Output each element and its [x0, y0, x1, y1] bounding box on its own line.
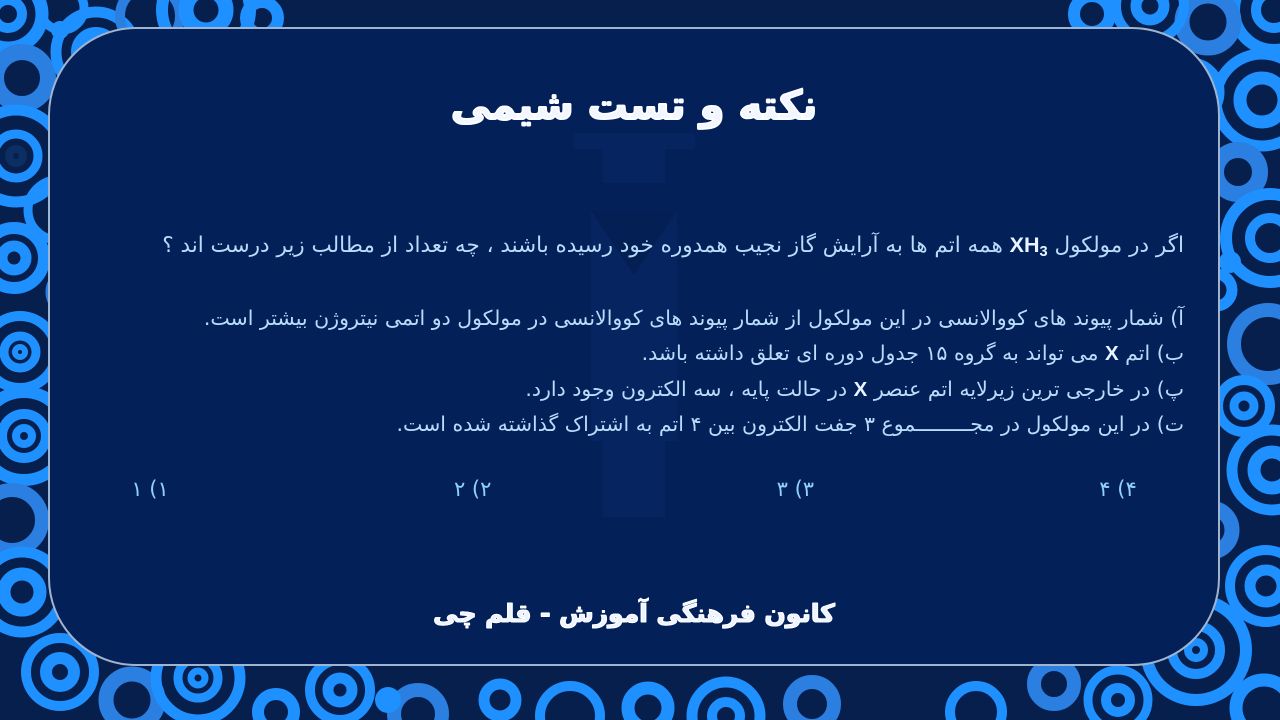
option-1[interactable]: ۱) ۱ — [90, 477, 210, 501]
question-prefix: اگر در مولکول — [1048, 233, 1184, 258]
statement-item-a: آ) شمار پیوند های کووالانسی در این مولکو… — [84, 301, 1184, 336]
slide-root: نکته و تست شیمی اگر در مولکول XH3 همه ات… — [0, 0, 1280, 720]
statement-item-t: ت) در این مولکول در مجـــــــــموع ۳ جفت… — [84, 407, 1184, 442]
statement-b-text-2: می تواند به گروه ۱۵ جدول دوره ای تعلق دا… — [642, 341, 1105, 365]
statement-a-text: آ) شمار پیوند های کووالانسی در این مولکو… — [204, 306, 1184, 330]
footer-branding: کانون فرهنگی آموزش - قلم چی — [50, 599, 1218, 628]
molecular-formula: XH3 — [1010, 233, 1048, 257]
content-card: نکته و تست شیمی اگر در مولکول XH3 همه ات… — [48, 27, 1220, 666]
statement-p-text-1: پ) در خارجی ترین زیرلایه اتم عنصر — [867, 377, 1184, 401]
statement-item-p: پ) در خارجی ترین زیرلایه اتم عنصر X در ح… — [84, 372, 1184, 407]
option-2[interactable]: ۲) ۲ — [413, 477, 533, 501]
statement-t-text: ت) در این مولکول در مجـــــــــموع ۳ جفت… — [396, 412, 1184, 436]
answer-options: ۱) ۱ ۲) ۲ ۳) ۳ ۴) ۴ — [90, 477, 1178, 501]
question-suffix: همه اتم ها به آرایش گاز نجیب همدوره خود … — [162, 233, 1009, 258]
statement-p-symbol: X — [854, 378, 868, 401]
statement-p-text-2: در حالت پایه ، سه الکترون وجود دارد. — [525, 377, 853, 401]
statement-item-b: ب) اتم X می تواند به گروه ۱۵ جدول دوره ا… — [84, 336, 1184, 371]
statement-list: آ) شمار پیوند های کووالانسی در این مولکو… — [84, 301, 1184, 442]
statement-b-text-1: ب) اتم — [1119, 341, 1184, 365]
formula-symbol: XH — [1010, 233, 1040, 257]
formula-subscript: 3 — [1040, 244, 1048, 260]
option-4[interactable]: ۴) ۴ — [1058, 477, 1178, 501]
option-3[interactable]: ۳) ۳ — [735, 477, 855, 501]
statement-b-symbol: X — [1105, 342, 1119, 365]
question-text: اگر در مولکول XH3 همه اتم ها به آرایش گا… — [84, 229, 1184, 264]
page-title: نکته و تست شیمی — [50, 81, 1218, 131]
